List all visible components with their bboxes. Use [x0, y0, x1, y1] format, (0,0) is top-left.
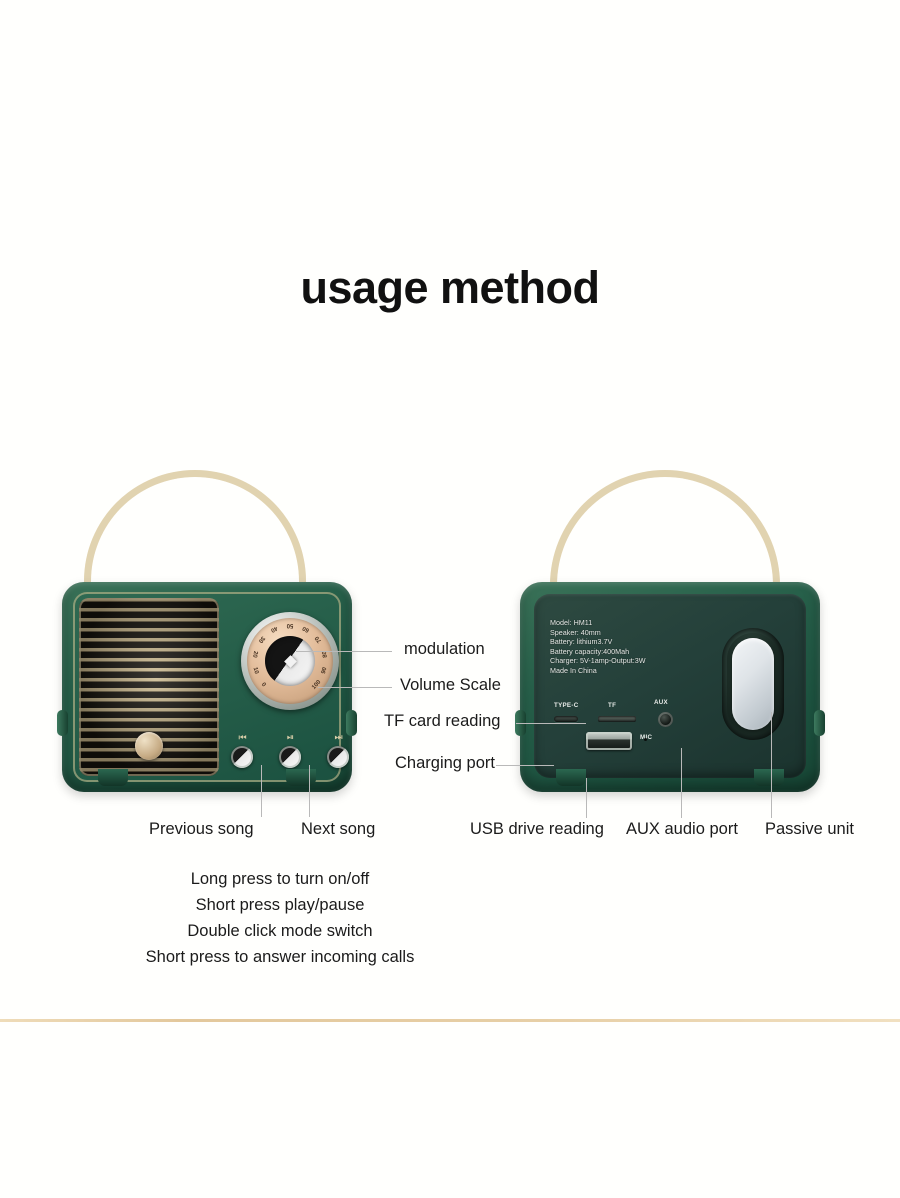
speaker-body-front: 0102030405060708090100 ⏮ ⏯	[62, 582, 352, 792]
speaker-front-view: 0102030405060708090100 ⏮ ⏯	[62, 470, 352, 810]
typec-port-label: TYPE-C	[554, 702, 579, 709]
tf-port-label: TF	[608, 702, 616, 709]
leader-passive-unit	[771, 712, 772, 818]
specification-label: Model: HM11Speaker: 40mmBattery: lithium…	[550, 618, 645, 676]
callout-passive-unit: Passive unit	[765, 820, 854, 839]
button-cap	[279, 746, 301, 768]
button-cap	[327, 746, 349, 768]
instruction-line: Long press to turn on/off	[0, 866, 560, 892]
spec-line: Made In China	[550, 666, 645, 676]
next-track-icon: ⏭	[334, 732, 341, 743]
leader-usb-drive	[586, 778, 587, 818]
dial-tick-10: 10	[252, 667, 260, 675]
play-pause-icon: ⏯	[287, 732, 293, 743]
speaker-back-view: Model: HM11Speaker: 40mmBattery: lithium…	[520, 470, 820, 810]
passive-radiator	[722, 628, 784, 740]
usage-instructions: Long press to turn on/offShort press pla…	[0, 866, 560, 970]
dial-tick-0: 0	[260, 682, 267, 688]
speaker-foot-left-back	[556, 769, 586, 786]
microphone-hole	[644, 738, 647, 741]
instruction-line: Double click mode switch	[0, 918, 560, 944]
leader-tf-card	[516, 723, 586, 724]
dial-tick-40: 40	[270, 625, 279, 633]
dial-tick-100: 100	[311, 679, 322, 690]
usb-a-port[interactable]	[586, 732, 632, 750]
callout-charging-port: Charging port	[395, 754, 495, 773]
spec-line: Model: HM11	[550, 618, 645, 628]
dial-tick-60: 60	[302, 625, 311, 633]
previous-track-button[interactable]: ⏮	[231, 746, 253, 768]
leader-volume-scale	[318, 687, 392, 688]
speaker-foot-right	[286, 769, 316, 786]
section-divider	[0, 1019, 900, 1022]
dial-tick-50: 50	[287, 622, 294, 628]
button-cap	[231, 746, 253, 768]
tf-card-slot[interactable]	[598, 716, 636, 722]
leader-modulation	[296, 651, 392, 652]
dial-tick-70: 70	[314, 635, 323, 644]
volume-knob[interactable]	[135, 732, 163, 760]
handle-hinge-left	[57, 710, 68, 736]
callout-next-song: Next song	[301, 820, 375, 839]
speaker-foot-right-back	[754, 769, 784, 786]
instruction-line: Short press play/pause	[0, 892, 560, 918]
usb-type-c-port[interactable]	[554, 716, 578, 722]
leader-next-song	[309, 765, 310, 817]
callout-aux-audio-port: AUX audio port	[626, 820, 738, 839]
speaker-body-back: Model: HM11Speaker: 40mmBattery: lithium…	[520, 582, 820, 792]
dial-needle	[284, 655, 297, 668]
spec-line: Speaker: 40mm	[550, 628, 645, 638]
handle-hinge-right-back	[814, 710, 825, 736]
leader-previous-song	[261, 765, 262, 817]
aux-jack[interactable]	[658, 712, 673, 727]
callout-modulation: modulation	[404, 640, 485, 659]
speaker-foot-left	[98, 769, 128, 786]
dial-face	[265, 636, 315, 686]
passive-radiator-cone	[732, 638, 774, 730]
leader-charging-port	[496, 765, 554, 766]
spec-line: Battery: lithium3.7V	[550, 637, 645, 647]
dial-tick-30: 30	[257, 635, 266, 644]
control-button-row: ⏮ ⏯ ⏭	[231, 722, 349, 768]
spec-line: Battery capacity:400Mah	[550, 647, 645, 657]
product-diagram-stage: 0102030405060708090100 ⏮ ⏯	[0, 0, 900, 1020]
dial-tick-20: 20	[251, 650, 258, 658]
front-faceplate: 0102030405060708090100 ⏮ ⏯	[73, 592, 341, 782]
tuning-dial[interactable]: 0102030405060708090100	[241, 612, 339, 710]
callout-tf-card-reading: TF card reading	[384, 712, 500, 731]
back-panel: Model: HM11Speaker: 40mmBattery: lithium…	[534, 594, 806, 778]
callout-previous-song: Previous song	[149, 820, 254, 839]
instruction-line: Short press to answer incoming calls	[0, 944, 560, 970]
play-pause-button[interactable]: ⏯	[279, 746, 301, 768]
previous-track-icon: ⏮	[238, 732, 245, 743]
io-port-zone: TYPE-C TF AUX MIC	[548, 698, 718, 760]
spec-line: Charger: 5V-1amp-Output:3W	[550, 656, 645, 666]
next-track-button[interactable]: ⏭	[327, 746, 349, 768]
callout-usb-drive-reading: USB drive reading	[470, 820, 604, 839]
callout-volume-scale: Volume Scale	[400, 676, 501, 695]
dial-tick-90: 90	[321, 667, 329, 675]
aux-port-label: AUX	[654, 699, 668, 706]
leader-aux-port	[681, 748, 682, 818]
